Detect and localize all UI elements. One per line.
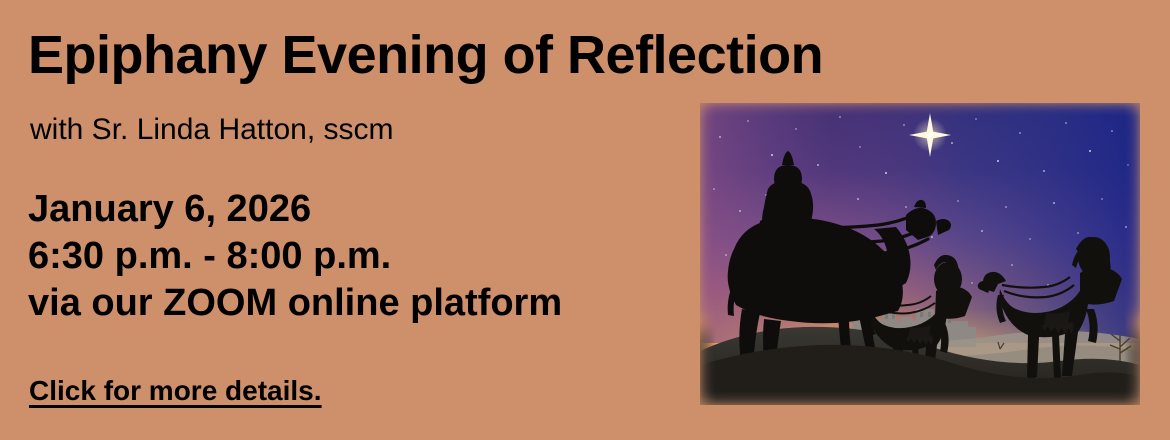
- event-date: January 6, 2026: [28, 186, 562, 233]
- epiphany-artwork: [690, 95, 1150, 413]
- epiphany-event-banner: Epiphany Evening of Reflection with Sr. …: [0, 0, 1170, 440]
- artwork-image: [700, 103, 1140, 405]
- more-details-link[interactable]: Click for more details.: [29, 375, 322, 407]
- artwork-svg: [700, 103, 1140, 405]
- event-time: 6:30 p.m. - 8:00 p.m.: [28, 233, 562, 280]
- event-text-column: Epiphany Evening of Reflection with Sr. …: [28, 0, 688, 440]
- page-title: Epiphany Evening of Reflection: [28, 25, 823, 85]
- presenter-subtitle: with Sr. Linda Hatton, sscm: [30, 113, 394, 147]
- event-details: January 6, 2026 6:30 p.m. - 8:00 p.m. vi…: [28, 186, 562, 327]
- event-location: via our ZOOM online platform: [28, 280, 562, 327]
